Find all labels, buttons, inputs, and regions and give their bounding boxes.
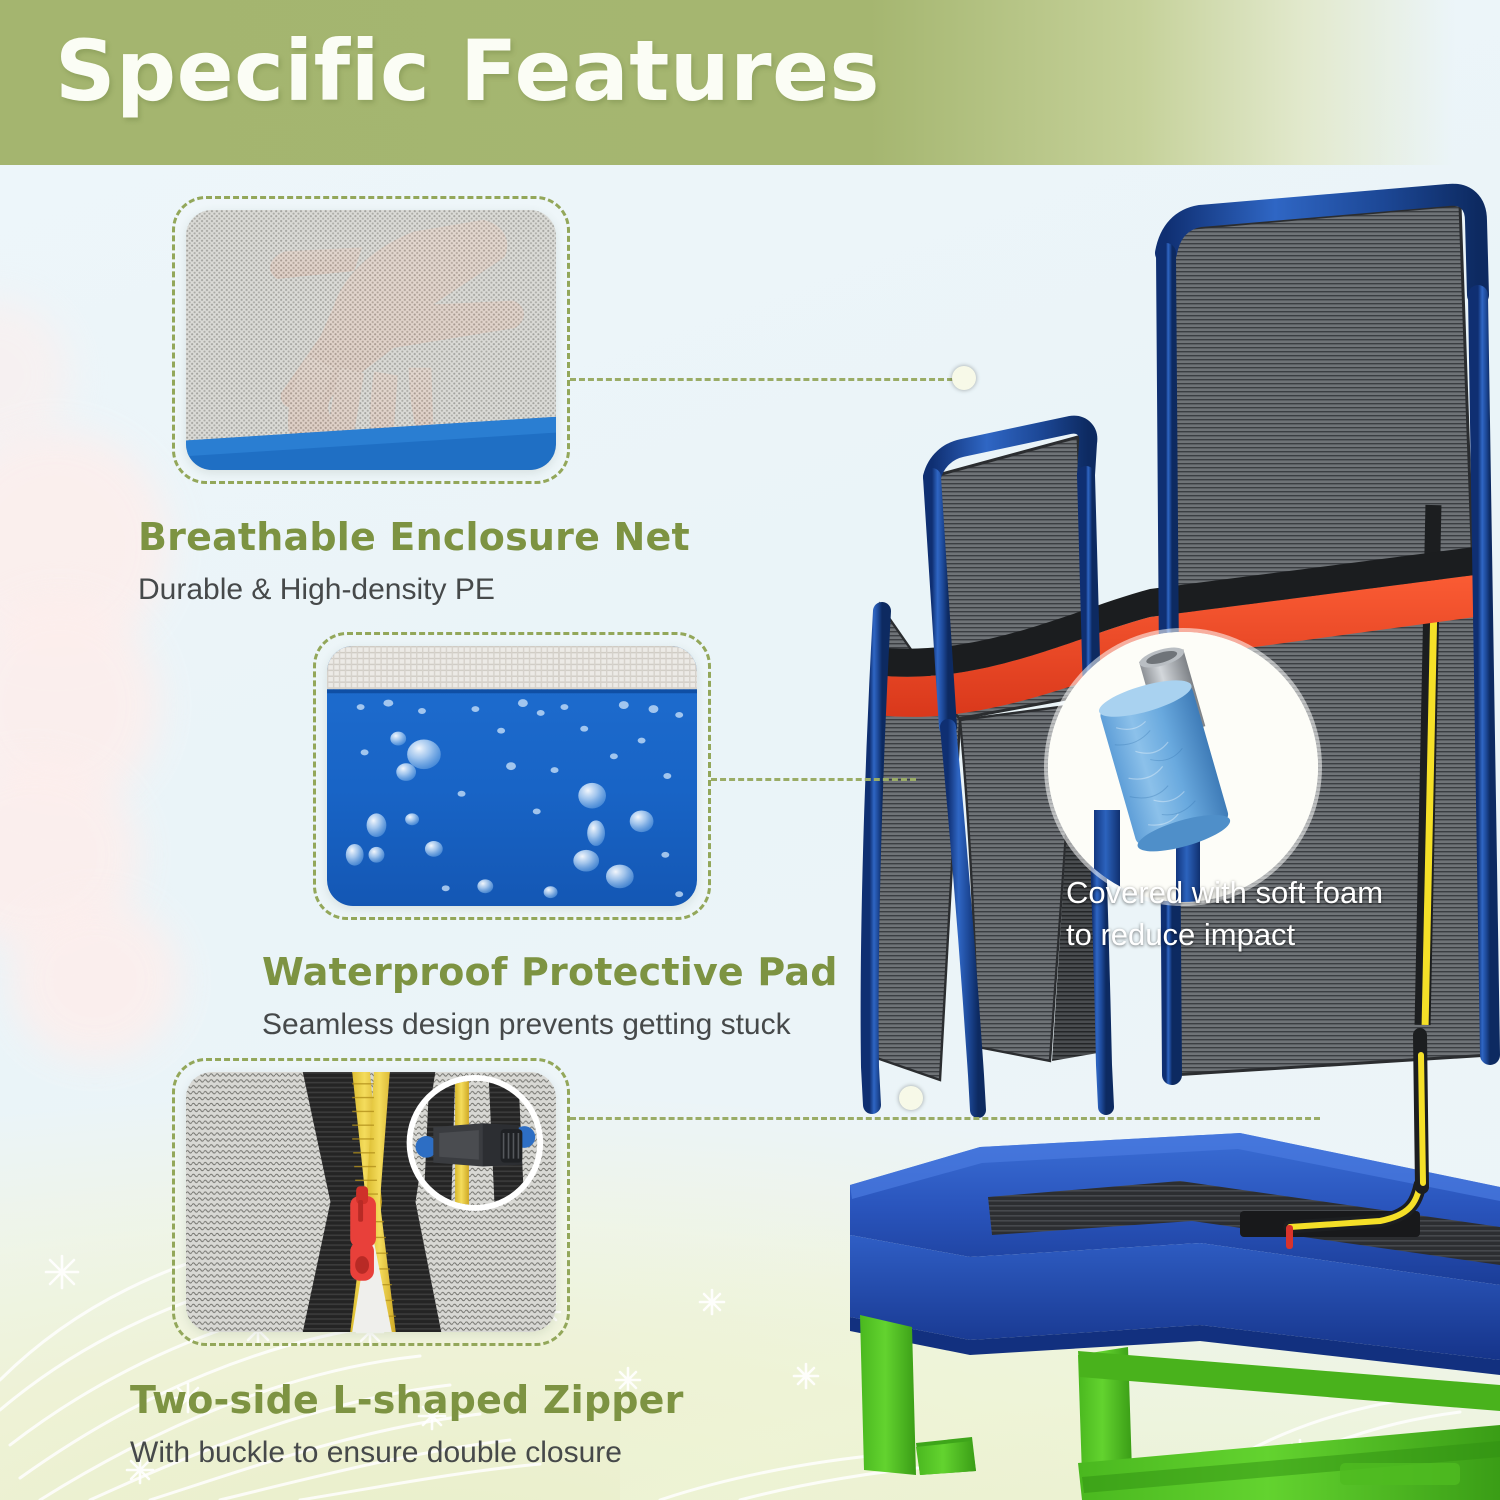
feature-subtitle: Durable & High-density PE bbox=[138, 573, 690, 607]
feature-image-breathable-enclosure-net bbox=[172, 196, 570, 484]
connector-line-pad bbox=[711, 778, 916, 781]
connector-dot-net bbox=[952, 366, 976, 390]
feature-subtitle: With buckle to ensure double closure bbox=[130, 1436, 684, 1470]
connector-line-net bbox=[570, 378, 962, 381]
feature-title: Two-side L-shaped Zipper bbox=[130, 1378, 684, 1422]
feature-title: Breathable Enclosure Net bbox=[138, 515, 690, 559]
feature-label-two-side-l-shaped-zipper: Two-side L-shaped Zipper With buckle to … bbox=[130, 1378, 684, 1470]
foam-detail-inset bbox=[1048, 632, 1318, 902]
feature-subtitle: Seamless design prevents getting stuck bbox=[262, 1008, 838, 1042]
foam-caption-text: Covered with soft foam to reduce impact bbox=[1066, 872, 1383, 956]
page-title: Specific Features bbox=[55, 22, 880, 120]
feature-image-waterproof-protective-pad bbox=[313, 632, 711, 920]
feature-label-waterproof-protective-pad: Waterproof Protective Pad Seamless desig… bbox=[262, 950, 838, 1042]
decorative-flower-blob bbox=[0, 300, 70, 450]
feature-title: Waterproof Protective Pad bbox=[262, 950, 838, 994]
feature-image-two-side-l-shaped-zipper bbox=[172, 1058, 570, 1346]
connector-line-zipper bbox=[570, 1117, 1320, 1120]
infographic-canvas: Specific Features bbox=[0, 0, 1500, 1500]
decorative-flower-blob bbox=[10, 900, 180, 1060]
header-banner: Specific Features bbox=[0, 0, 1500, 165]
feature-label-breathable-enclosure-net: Breathable Enclosure Net Durable & High-… bbox=[138, 515, 690, 607]
connector-dot-zipper bbox=[899, 1086, 923, 1110]
